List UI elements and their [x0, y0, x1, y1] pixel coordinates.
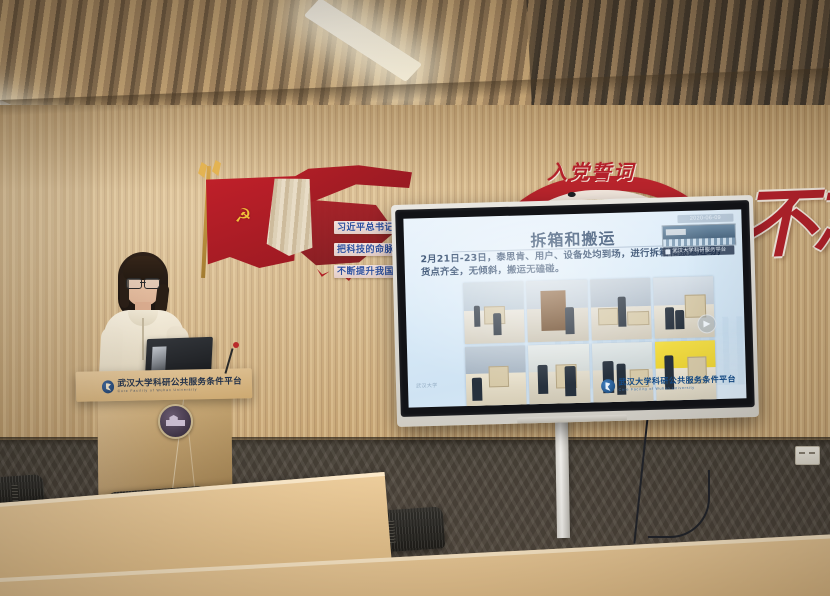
slide-video-overlay: 2020-06-09 武汉大学科研服务平台: [661, 213, 736, 259]
glasses-icon: [126, 278, 160, 287]
slide-photo: [463, 281, 525, 343]
scroll-graphic: [266, 177, 316, 257]
slide-logo-en: Core Facility of Wuhan University: [619, 386, 737, 393]
interactive-flat-panel-display[interactable]: 拆箱和搬运 2月21日-23日，泰思肯、用户、设备处均到场，进行拆箱和搬运进场，…: [391, 195, 759, 427]
overlay-channel-tag: 武汉大学科研服务平台: [662, 246, 734, 257]
microphone-icon: [233, 342, 239, 348]
slide-photo: [465, 345, 527, 407]
photo-scene: ☭ 习近平总书记指出 把科技的命脉牢 不断提升我国发展 入党誓词 不忘 拆箱和搬…: [0, 0, 830, 596]
slide-photo: [526, 280, 588, 342]
university-seal-icon: [158, 404, 193, 439]
presenter-zipper: [142, 318, 144, 360]
channel-badge-icon: [665, 249, 670, 254]
hammer-sickle-icon: ☭: [232, 206, 254, 228]
oath-heading-text: 入党誓词: [536, 160, 646, 184]
podium-logo: 武汉大学科研公共服务条件平台 Core Facility of Wuhan Un…: [102, 375, 242, 396]
slide-photo: [590, 278, 652, 340]
overlay-thumbnail: [662, 223, 737, 247]
slide-photo: [528, 343, 590, 405]
podium-logo-cn: 武汉大学科研公共服务条件平台: [117, 377, 242, 388]
display-bezel: 拆箱和搬运 2月21日-23日，泰思肯、用户、设备处均到场，进行拆箱和搬运进场，…: [395, 200, 755, 417]
bird-icon-1: [315, 269, 329, 279]
seal-building-glyph: [166, 415, 185, 426]
podium-logo-en: Core Facility of Wuhan University: [118, 387, 243, 393]
flag-finial-right: [212, 160, 221, 176]
display-stand-column: [555, 418, 570, 538]
overlay-channel-text: 武汉大学科研服务平台: [672, 247, 726, 255]
presentation-slide[interactable]: 拆箱和搬运 2月21日-23日，泰思肯、用户、设备处均到场，进行拆箱和搬运进场，…: [403, 209, 746, 407]
university-mark-icon: [102, 380, 115, 393]
university-mark-icon: [601, 379, 615, 393]
overlay-timestamp: 2020-06-09: [677, 214, 733, 224]
wall-power-outlet[interactable]: [795, 446, 820, 465]
slide-watermark: 武汉大学: [416, 382, 438, 390]
slide-footer-logo: 武汉大学科研公共服务条件平台 Core Facility of Wuhan Un…: [601, 373, 736, 397]
presenter-hair-front: [123, 256, 164, 280]
